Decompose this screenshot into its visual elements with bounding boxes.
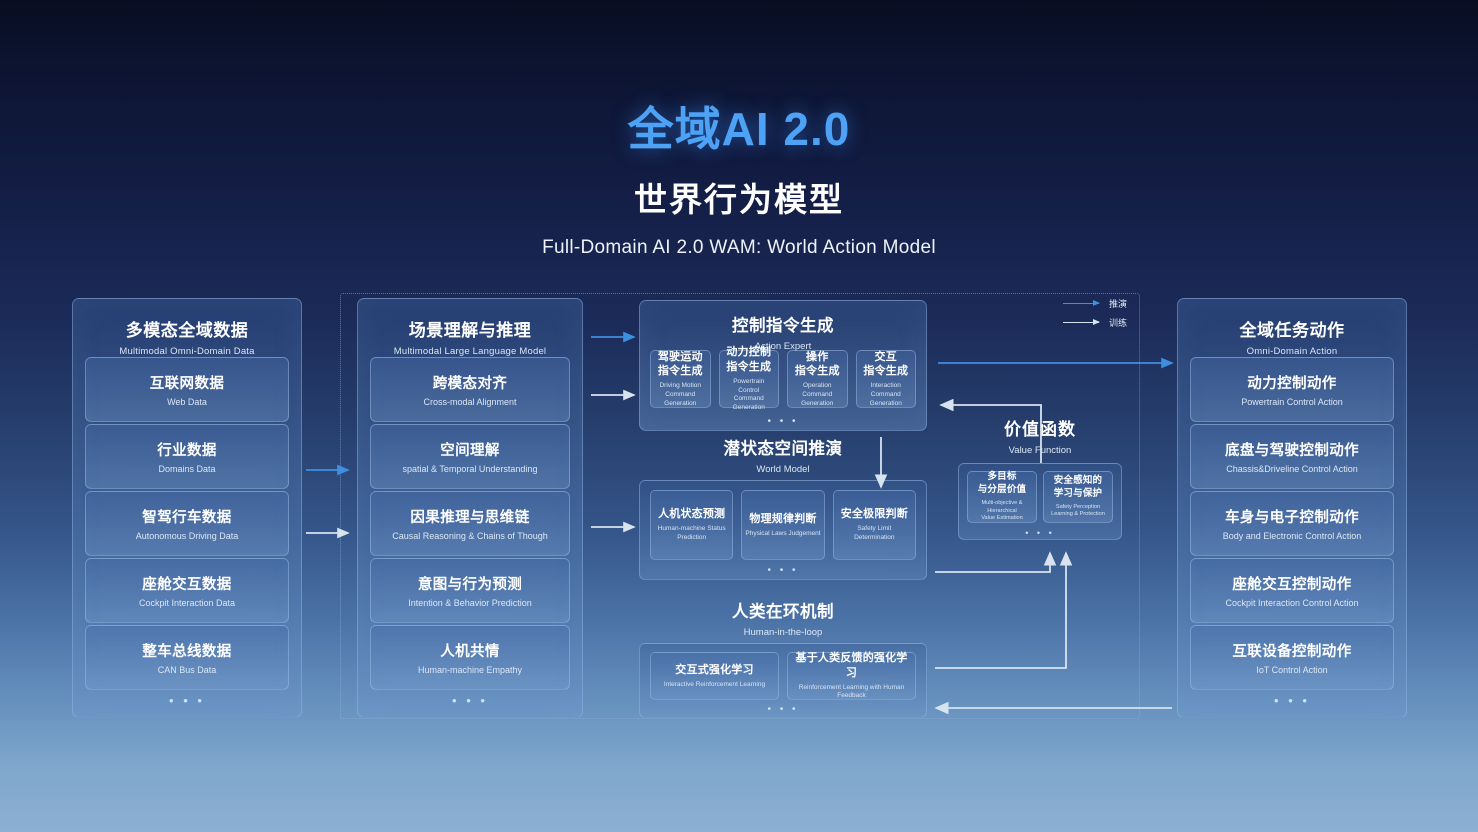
list-item[interactable]: 物理规律判断 Physical Laws Judgement: [741, 490, 824, 560]
action-expert-items: 驾驶运动指令生成 Driving MotionCommand Generatio…: [650, 350, 916, 408]
human-loop-title-en: Human-in-the-loop: [639, 627, 927, 638]
card-title-en: Domains Data: [158, 464, 215, 474]
list-item[interactable]: 座舱交互数据 Cockpit Interaction Data: [85, 558, 289, 623]
card-title-cn: 智驾行车数据: [142, 506, 231, 527]
data-card-list: 互联网数据 Web Data 行业数据 Domains Data 智驾行车数据 …: [85, 357, 289, 692]
mini-title-en: Human-machine Status Prediction: [654, 525, 729, 543]
list-item[interactable]: 操作指令生成 OperationCommand Generation: [787, 350, 848, 408]
list-item[interactable]: 底盘与驾驶控制动作 Chassis&Driveline Control Acti…: [1190, 424, 1394, 489]
mini-title-cn: 多目标与分层价值: [978, 471, 1027, 497]
mini-title-cn: 交互式强化学习: [675, 663, 753, 678]
action-expert-title-cn: 控制指令生成: [640, 312, 926, 336]
panel-data-title-en: Multimodal Omni-Domain Data: [73, 346, 301, 357]
panel-world-model[interactable]: 人机状态预测 Human-machine Status Prediction 物…: [639, 480, 927, 580]
card-title-en: Cockpit Interaction Data: [139, 598, 235, 608]
mini-title-cn: 安全极限判断: [841, 507, 908, 522]
card-title-cn: 互联设备控制动作: [1232, 640, 1351, 661]
legend-item-inference: 推演: [1063, 296, 1163, 311]
mini-title-cn: 安全感知的学习与保护: [1054, 475, 1103, 501]
list-item[interactable]: 基于人类反馈的强化学习 Reinforcement Learning with …: [787, 652, 916, 700]
list-item[interactable]: 跨模态对齐 Cross-modal Alignment: [370, 357, 570, 422]
card-title-cn: 车身与电子控制动作: [1225, 506, 1359, 527]
card-title-en: Human-machine Empathy: [418, 665, 522, 675]
card-title-en: spatial & Temporal Understanding: [403, 464, 538, 474]
list-item[interactable]: 互联设备控制动作 IoT Control Action: [1190, 625, 1394, 690]
panel-data-header: 多模态全域数据 Multimodal Omni-Domain Data: [73, 299, 301, 357]
group-world-model: 潜状态空间推演 World Model 人机状态预测 Human-machine…: [639, 435, 927, 580]
mini-title-en: OperationCommand Generation: [791, 382, 844, 408]
card-title-cn: 动力控制动作: [1247, 372, 1336, 393]
list-item[interactable]: 空间理解 spatial & Temporal Understanding: [370, 424, 570, 489]
panel-human-in-the-loop[interactable]: 交互式强化学习 Interactive Reinforcement Learni…: [639, 643, 927, 718]
list-item[interactable]: 人机状态预测 Human-machine Status Prediction: [650, 490, 733, 560]
overflow-dots: • • •: [1178, 693, 1406, 708]
mini-title-en: Multi-objective & HierarchicalValue Esti…: [971, 500, 1033, 523]
panel-omni-domain-action[interactable]: 全域任务动作 Omni-Domain Action 动力控制动作 Powertr…: [1177, 298, 1407, 718]
world-model-title-cn: 潜状态空间推演: [639, 435, 927, 459]
panel-data-title-cn: 多模态全域数据: [73, 316, 301, 341]
mini-title-en: Reinforcement Learning with Human Feedba…: [791, 684, 912, 702]
panel-multimodal-data[interactable]: 多模态全域数据 Multimodal Omni-Domain Data 互联网数…: [72, 298, 302, 718]
legend-label-inference: 推演: [1109, 297, 1127, 310]
action-expert-header: 控制指令生成 Action Expert: [640, 301, 926, 352]
legend-label-training: 训练: [1109, 316, 1127, 329]
card-title-en: Body and Electronic Control Action: [1223, 531, 1362, 541]
panel-value-function[interactable]: 多目标与分层价值 Multi-objective & HierarchicalV…: [958, 463, 1122, 540]
group-human-in-the-loop: 人类在环机制 Human-in-the-loop 交互式强化学习 Interac…: [639, 598, 927, 718]
mini-title-cn: 操作指令生成: [795, 350, 840, 380]
card-title-en: CAN Bus Data: [158, 665, 217, 675]
value-function-title-cn: 价值函数: [960, 415, 1120, 440]
mini-title-en: Safety Limit Determination: [837, 525, 912, 543]
panel-action-title-cn: 全域任务动作: [1178, 316, 1406, 341]
panel-action-header: 全域任务动作 Omni-Domain Action: [1178, 299, 1406, 357]
list-item[interactable]: 安全极限判断 Safety Limit Determination: [833, 490, 916, 560]
list-item[interactable]: 车身与电子控制动作 Body and Electronic Control Ac…: [1190, 491, 1394, 556]
reasoning-card-list: 跨模态对齐 Cross-modal Alignment 空间理解 spatial…: [370, 357, 570, 692]
mini-title-cn: 人机状态预测: [658, 507, 725, 522]
card-title-en: Powertrain Control Action: [1241, 397, 1343, 407]
card-title-en: Autonomous Driving Data: [136, 531, 239, 541]
architecture-diagram: 推演 训练 多模态全域数据 Multimodal Omni-Domain Dat…: [0, 0, 1478, 832]
card-title-en: Cross-modal Alignment: [423, 397, 516, 407]
overflow-dots: • • •: [640, 565, 926, 576]
card-title-cn: 跨模态对齐: [433, 372, 508, 393]
overflow-dots: • • •: [73, 693, 301, 708]
overflow-dots: • • •: [640, 704, 926, 715]
training-arrow-icon: [1063, 322, 1099, 324]
inference-arrow-icon: [1063, 303, 1099, 305]
panel-action-title-en: Omni-Domain Action: [1178, 346, 1406, 357]
list-item[interactable]: 智驾行车数据 Autonomous Driving Data: [85, 491, 289, 556]
panel-reasoning-header: 场景理解与推理 Multimodal Large Language Model: [358, 299, 582, 357]
human-loop-header: 人类在环机制 Human-in-the-loop: [639, 598, 927, 638]
list-item[interactable]: 安全感知的学习与保护 Safety PerceptionLearning & P…: [1043, 471, 1113, 523]
card-title-en: Chassis&Driveline Control Action: [1226, 464, 1358, 474]
overflow-dots: • • •: [358, 693, 582, 708]
card-title-cn: 底盘与驾驶控制动作: [1225, 439, 1359, 460]
card-title-en: Web Data: [167, 397, 207, 407]
panel-reasoning-title-cn: 场景理解与推理: [358, 316, 582, 341]
legend-item-training: 训练: [1063, 315, 1163, 330]
panel-scene-understanding[interactable]: 场景理解与推理 Multimodal Large Language Model …: [357, 298, 583, 718]
mini-title-cn: 交互指令生成: [863, 350, 908, 380]
mini-title-cn: 驾驶运动指令生成: [658, 350, 703, 380]
list-item[interactable]: 动力控制动作 Powertrain Control Action: [1190, 357, 1394, 422]
world-model-header: 潜状态空间推演 World Model: [639, 435, 927, 475]
mini-title-en: Physical Laws Judgement: [745, 530, 820, 539]
panel-reasoning-title-en: Multimodal Large Language Model: [358, 346, 582, 357]
card-title-cn: 座舱交互数据: [142, 573, 231, 594]
card-title-en: IoT Control Action: [1256, 665, 1327, 675]
card-title-cn: 意图与行为预测: [418, 573, 522, 594]
card-title-en: Cockpit Interaction Control Action: [1225, 598, 1358, 608]
card-title-en: Causal Reasoning & Chains of Though: [392, 531, 547, 541]
list-item[interactable]: 因果推理与思维链 Causal Reasoning & Chains of Th…: [370, 491, 570, 556]
list-item[interactable]: 意图与行为预测 Intention & Behavior Prediction: [370, 558, 570, 623]
list-item[interactable]: 驾驶运动指令生成 Driving MotionCommand Generatio…: [650, 350, 711, 408]
value-function-items: 多目标与分层价值 Multi-objective & HierarchicalV…: [967, 471, 1113, 523]
legend: 推演 训练: [1063, 296, 1163, 334]
action-card-list: 动力控制动作 Powertrain Control Action 底盘与驾驶控制…: [1190, 357, 1394, 692]
human-loop-items: 交互式强化学习 Interactive Reinforcement Learni…: [650, 652, 916, 700]
card-title-cn: 行业数据: [157, 439, 217, 460]
mini-title-en: Powertrain ControlCommand Generation: [723, 378, 776, 413]
mini-title-cn: 基于人类反馈的强化学习: [791, 651, 912, 681]
card-title-cn: 人机共情: [440, 640, 500, 661]
list-item[interactable]: 行业数据 Domains Data: [85, 424, 289, 489]
list-item[interactable]: 多目标与分层价值 Multi-objective & HierarchicalV…: [967, 471, 1037, 523]
card-title-cn: 空间理解: [440, 439, 500, 460]
mini-title-en: Driving MotionCommand Generation: [654, 382, 707, 408]
list-item[interactable]: 人机共情 Human-machine Empathy: [370, 625, 570, 690]
overflow-dots: • • •: [959, 528, 1121, 538]
card-title-en: Intention & Behavior Prediction: [408, 598, 532, 608]
overflow-dots: • • •: [640, 416, 926, 427]
mini-title-cn: 物理规律判断: [749, 512, 816, 527]
panel-action-expert[interactable]: 控制指令生成 Action Expert 驾驶运动指令生成 Driving Mo…: [639, 300, 927, 431]
list-item[interactable]: 互联网数据 Web Data: [85, 357, 289, 422]
card-title-cn: 互联网数据: [150, 372, 225, 393]
world-model-title-en: World Model: [639, 464, 927, 475]
list-item[interactable]: 动力控制指令生成 Powertrain ControlCommand Gener…: [719, 350, 780, 408]
mini-title-cn: 动力控制指令生成: [726, 345, 771, 375]
card-title-cn: 座舱交互控制动作: [1232, 573, 1351, 594]
value-function-header: 价值函数 Value Function: [960, 415, 1120, 456]
card-title-cn: 因果推理与思维链: [410, 506, 529, 527]
list-item[interactable]: 座舱交互控制动作 Cockpit Interaction Control Act…: [1190, 558, 1394, 623]
mini-title-en: Safety PerceptionLearning & Protection: [1051, 504, 1105, 519]
mini-title-en: InteractionCommand Generation: [860, 382, 913, 408]
list-item[interactable]: 交互式强化学习 Interactive Reinforcement Learni…: [650, 652, 779, 700]
list-item[interactable]: 整车总线数据 CAN Bus Data: [85, 625, 289, 690]
world-model-items: 人机状态预测 Human-machine Status Prediction 物…: [650, 490, 916, 560]
value-function-title-en: Value Function: [960, 445, 1120, 456]
human-loop-title-cn: 人类在环机制: [639, 598, 927, 622]
list-item[interactable]: 交互指令生成 InteractionCommand Generation: [856, 350, 917, 408]
card-title-cn: 整车总线数据: [142, 640, 231, 661]
mini-title-en: Interactive Reinforcement Learning: [664, 681, 765, 690]
